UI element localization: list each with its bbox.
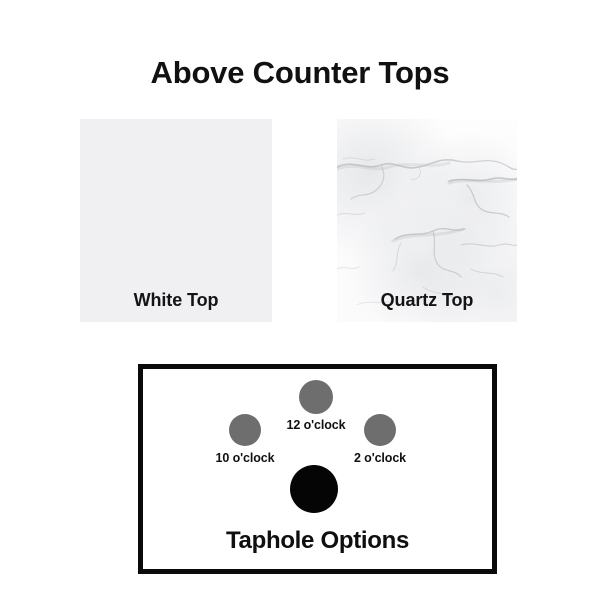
page-title: Above Counter Tops bbox=[0, 56, 600, 90]
taphole-options-diagram: 12 o'clock 10 o'clock 2 o'clock Taphole … bbox=[138, 364, 497, 574]
taphole-options-caption: Taphole Options bbox=[143, 527, 492, 555]
taphole-2-oclock-label: 2 o'clock bbox=[320, 451, 440, 465]
basin-drain[interactable] bbox=[290, 465, 338, 513]
counter-top-label-quartz: Quartz Top bbox=[337, 290, 517, 311]
taphole-2-oclock[interactable] bbox=[364, 414, 396, 446]
taphole-12-oclock[interactable] bbox=[299, 380, 333, 414]
counter-top-label-white: White Top bbox=[80, 290, 272, 311]
taphole-10-oclock-label: 10 o'clock bbox=[185, 451, 305, 465]
taphole-12-oclock-label: 12 o'clock bbox=[256, 418, 376, 432]
taphole-10-oclock[interactable] bbox=[229, 414, 261, 446]
counter-top-swatch-white[interactable]: White Top bbox=[80, 119, 272, 322]
counter-top-swatch-quartz[interactable]: Quartz Top bbox=[337, 119, 517, 322]
page-root: Above Counter Tops White Top bbox=[0, 0, 600, 600]
